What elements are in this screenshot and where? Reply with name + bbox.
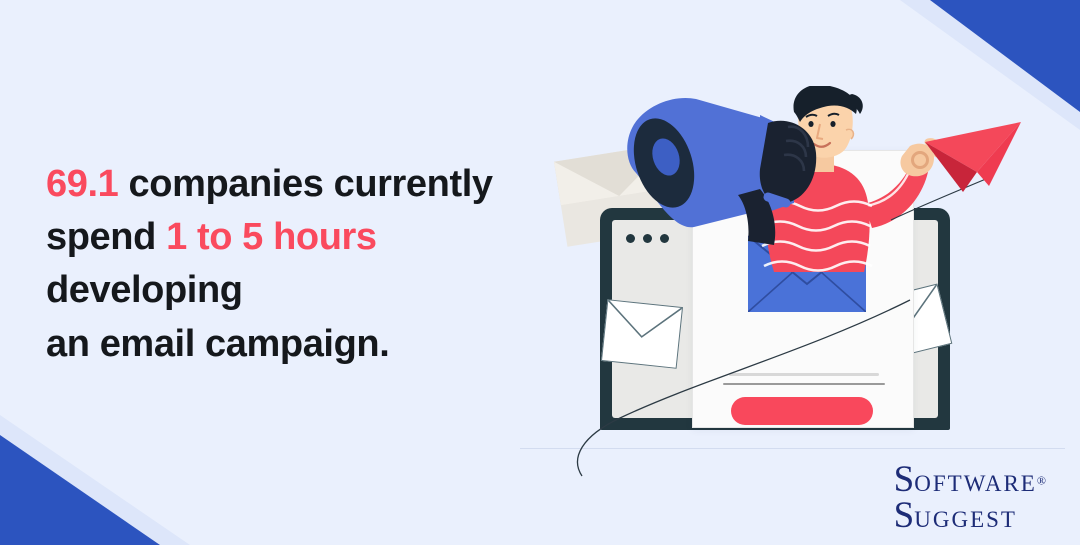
megaphone-icon <box>618 85 830 265</box>
headline-line-2: spend 1 to 5 hours <box>46 211 566 264</box>
infographic-banner: 69.1 companies currently spend 1 to 5 ho… <box>0 0 1080 545</box>
paper-plane-icon <box>885 100 1065 250</box>
logo-row-suggest: SUGGEST <box>894 499 1046 533</box>
registered-trademark-icon: ® <box>1037 474 1046 488</box>
logo-s-suggest: S <box>894 495 915 536</box>
headline-stat-value: 69.1 <box>46 163 118 205</box>
headline-line-2-prefix: spend <box>46 216 166 258</box>
logo-text-suggest: UGGEST <box>914 507 1017 532</box>
headline-line-3: developing <box>46 264 566 317</box>
corner-accent-bottom-left-light <box>0 415 190 545</box>
headline-line-1: 69.1 companies currently <box>46 158 566 211</box>
logo-text-software: OFTWARE <box>914 471 1037 496</box>
headline-line-4: an email campaign. <box>46 318 566 371</box>
illustration <box>500 60 1080 490</box>
headline-duration-value: 1 to 5 hours <box>166 216 377 258</box>
headline-text: 69.1 companies currently spend 1 to 5 ho… <box>46 158 566 371</box>
corner-accent-bottom-left-blue <box>0 435 160 545</box>
headline-line-1-rest: companies currently <box>118 163 492 205</box>
